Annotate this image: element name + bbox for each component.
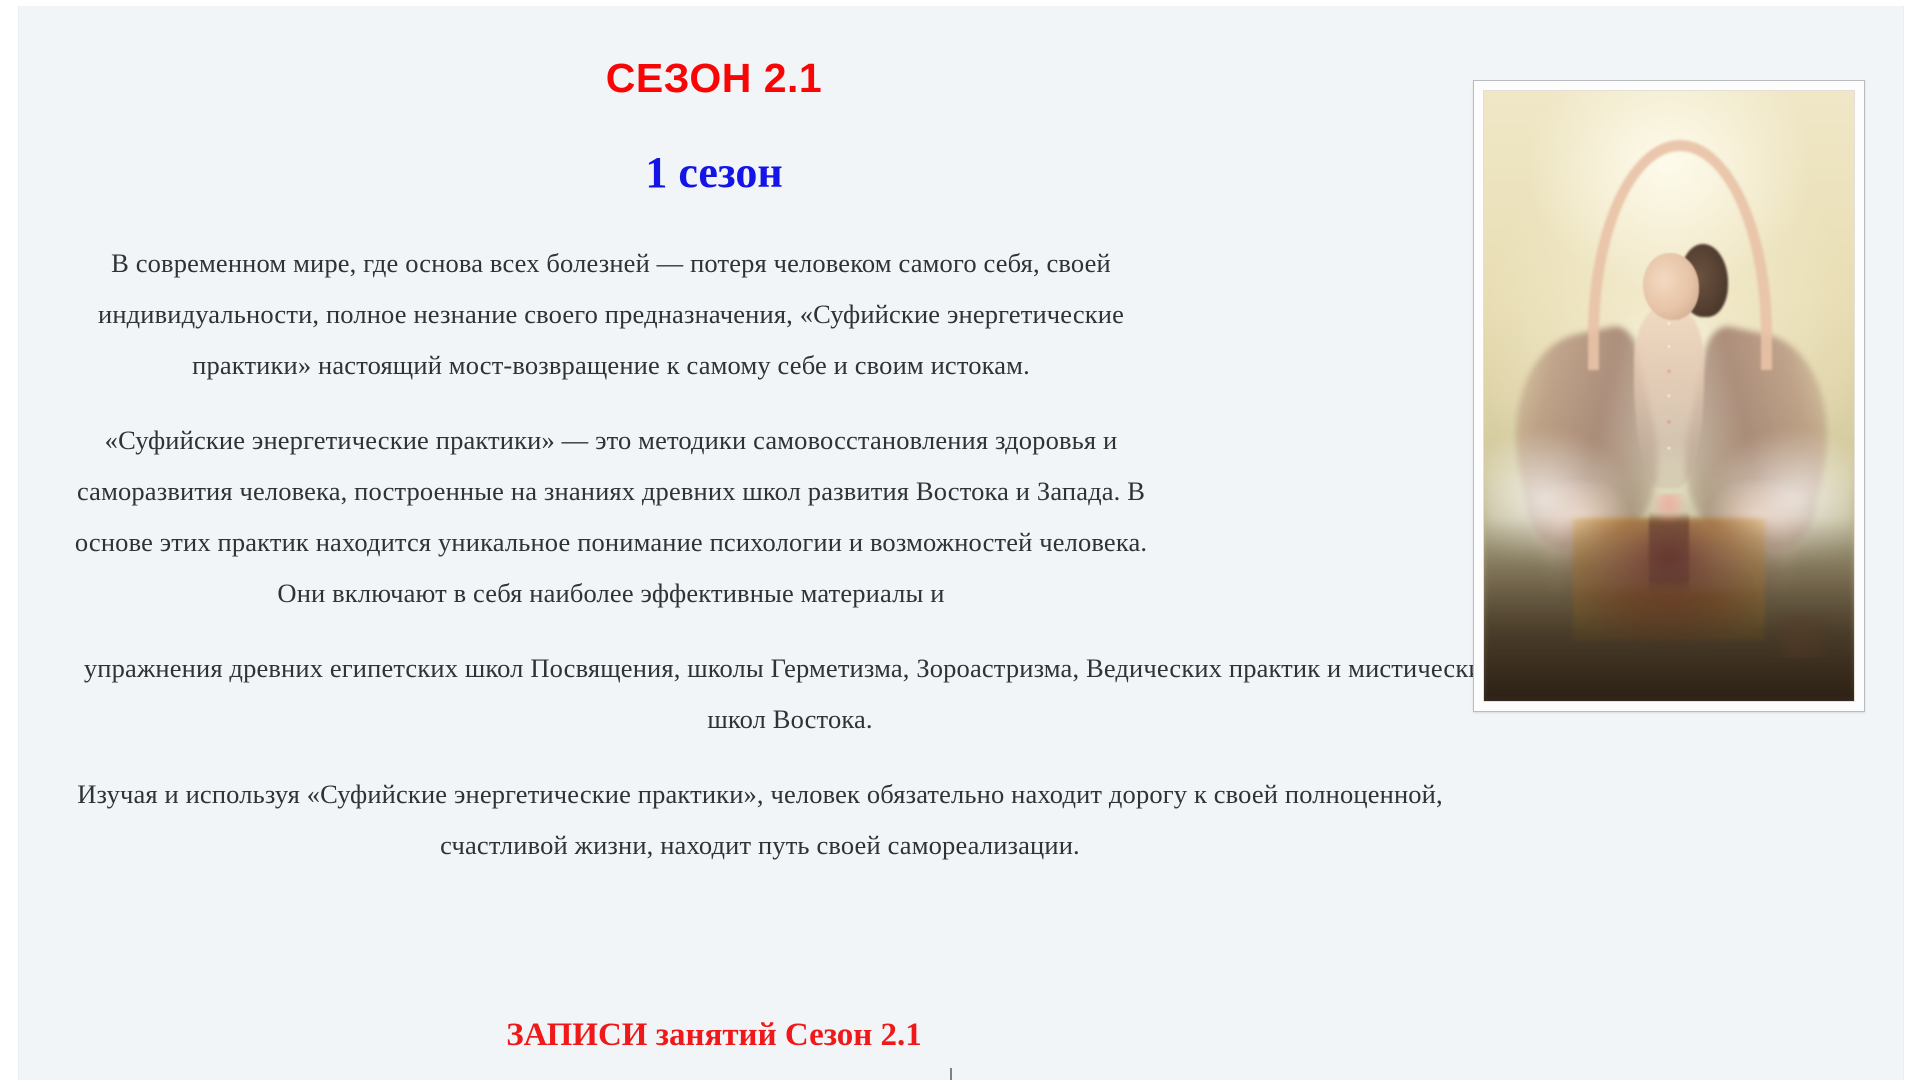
- paragraph-intro: В современном мире, где основа всех боле…: [65, 238, 1157, 391]
- section-title-records: ЗАПИСИ занятий Сезон 2.1: [19, 1016, 1409, 1056]
- text-caret: [950, 1068, 952, 1080]
- subtitle-season-number: 1 сезон: [19, 149, 1409, 197]
- content-wrapper: СЕЗОН 2.1 1 сезон В современном мире, гд…: [19, 6, 1905, 1080]
- page-title-season: СЕЗОН 2.1: [19, 56, 1409, 101]
- illustration-signature: [1773, 616, 1832, 659]
- illustration-frame: [1473, 80, 1865, 712]
- paragraph-methods: «Суфийские энергетические практики» — эт…: [65, 415, 1157, 619]
- page-canvas: СЕЗОН 2.1 1 сезон В современном мире, гд…: [18, 6, 1904, 1080]
- paragraph-schools: упражнения древних египетских школ Посвя…: [65, 643, 1515, 745]
- illustration-image: [1483, 90, 1855, 702]
- illustration-lotus-base: [1484, 518, 1854, 701]
- article-body: В современном мире, где основа всех боле…: [65, 238, 1365, 895]
- page-root: СЕЗОН 2.1 1 сезон В современном мире, гд…: [0, 0, 1920, 1080]
- illustration-head: [1643, 253, 1699, 320]
- paragraph-conclusion: Изучая и используя «Суфийские энергетиче…: [65, 769, 1455, 871]
